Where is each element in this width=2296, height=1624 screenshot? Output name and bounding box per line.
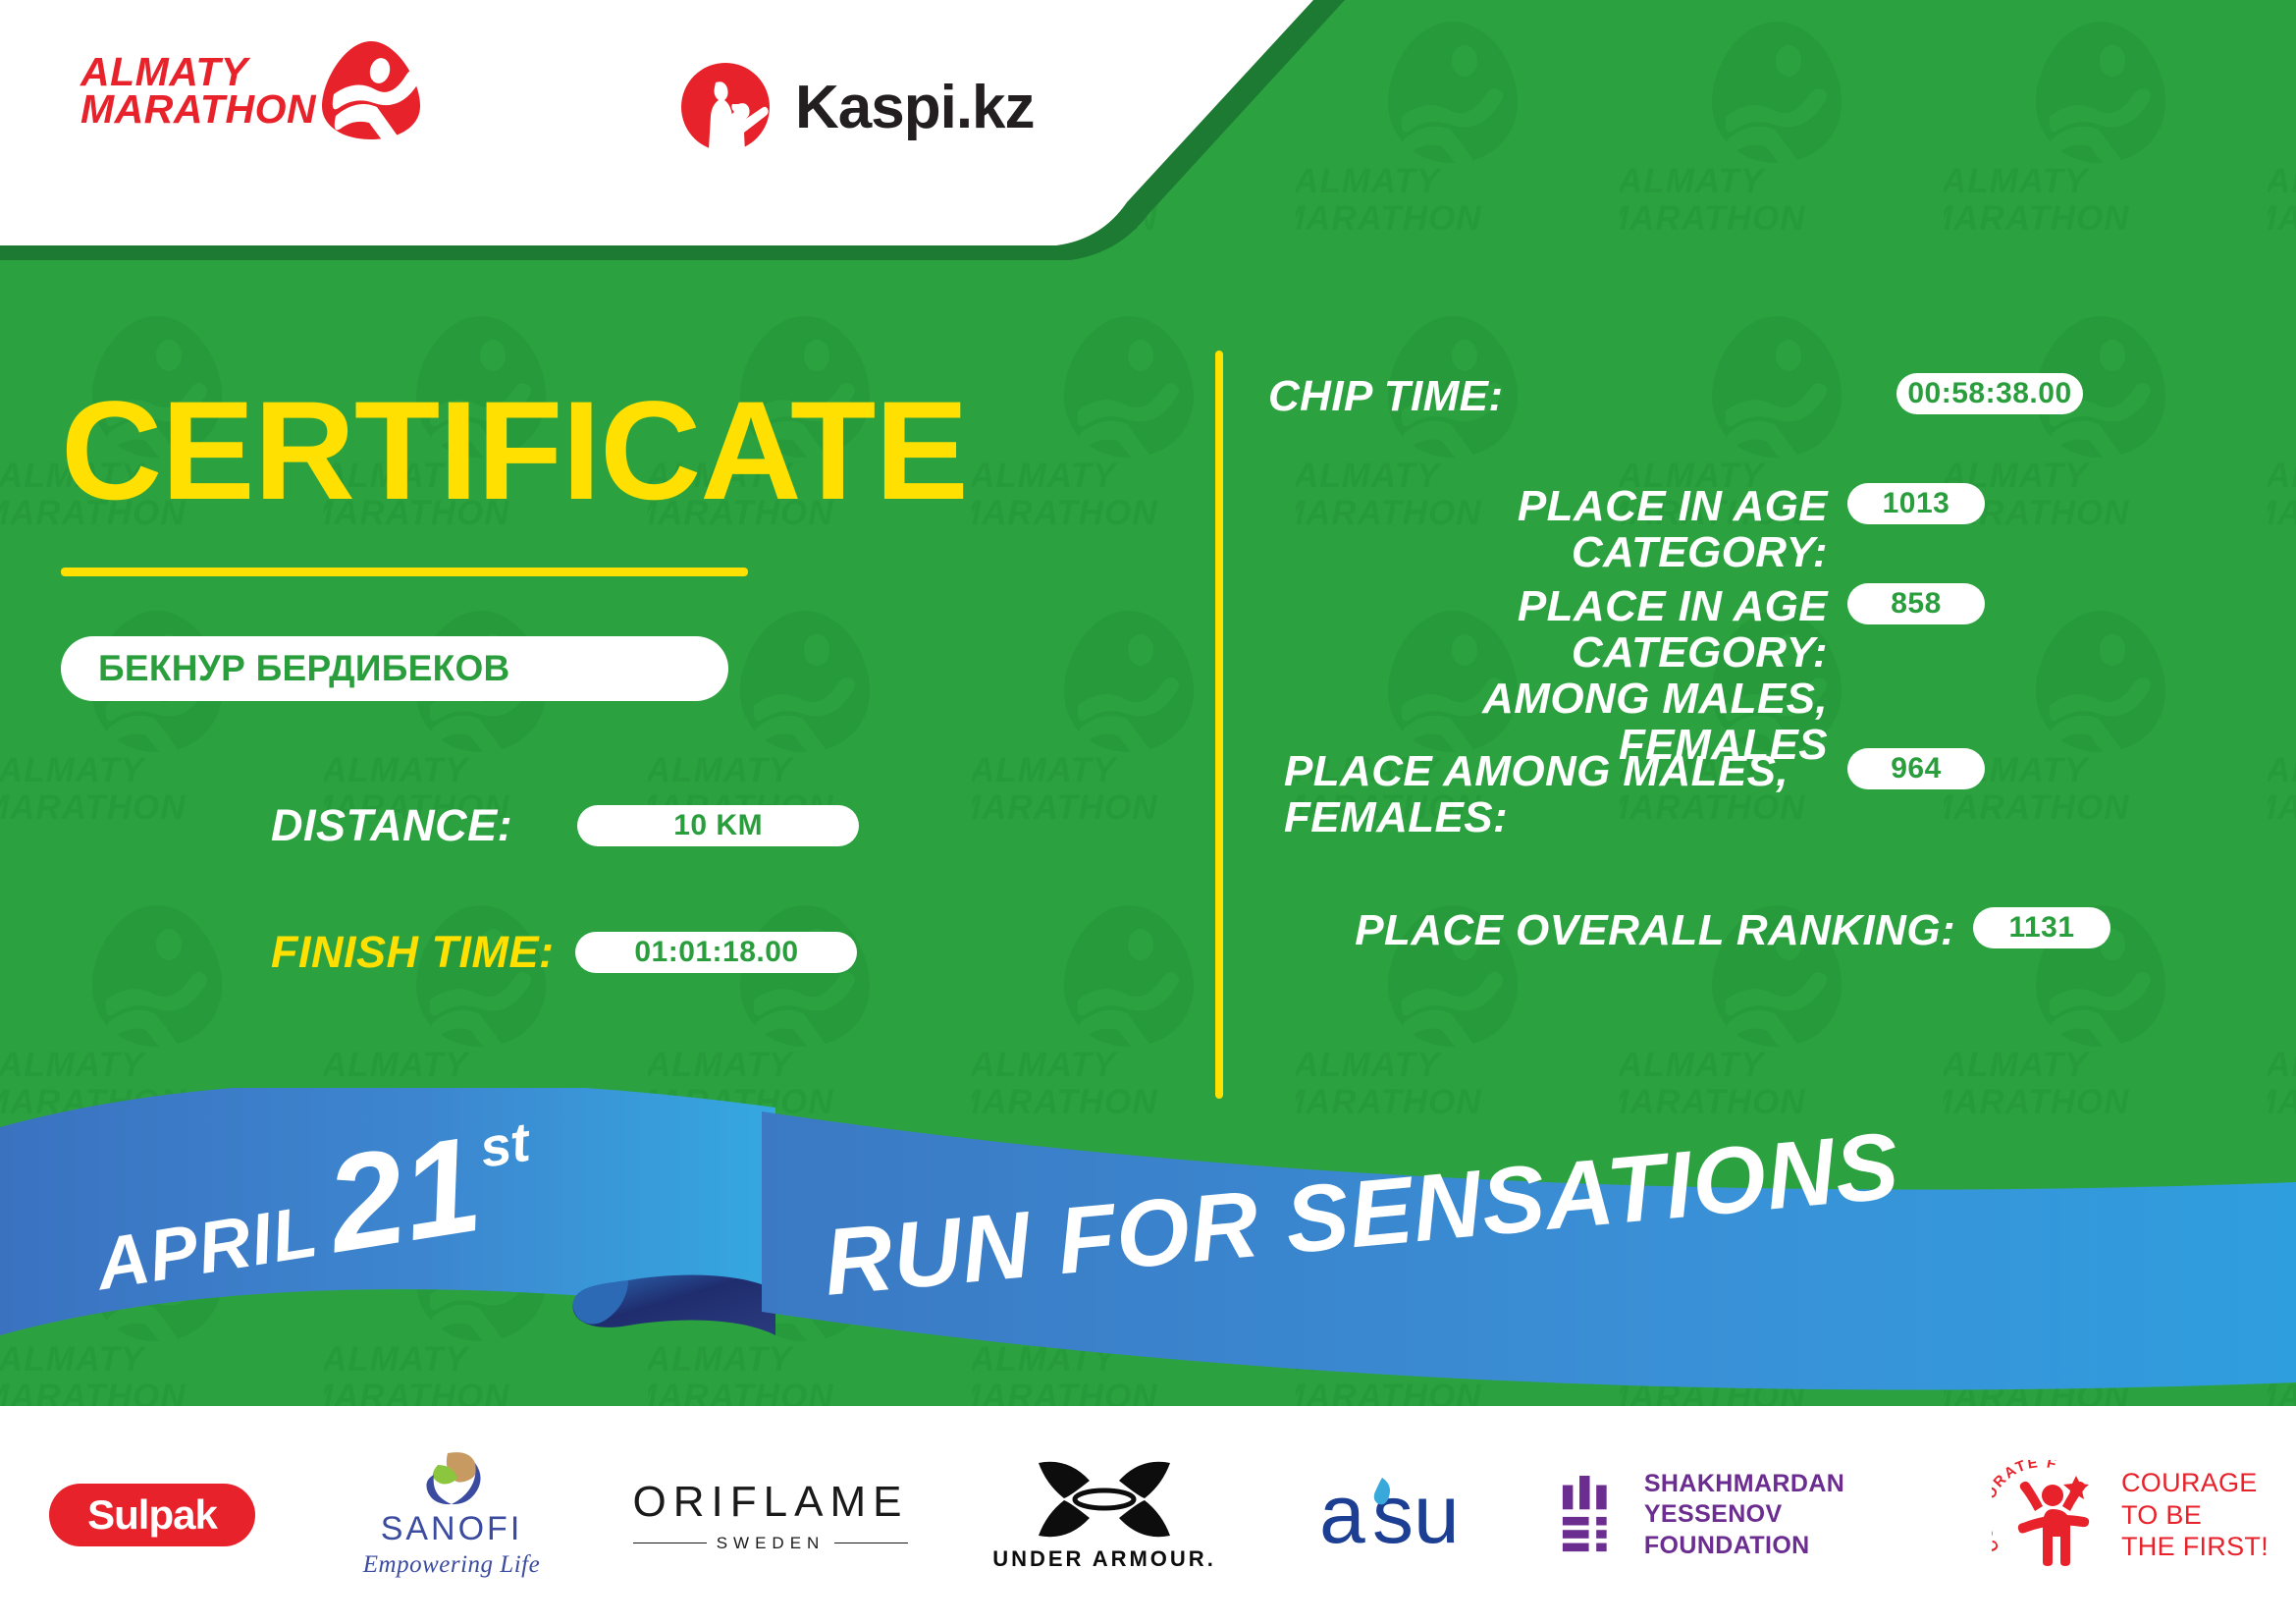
yessenov-logo: SHAKHMARDAN YESSENOV FOUNDATION (1561, 1469, 1973, 1561)
under-armour-logo: UNDER ARMOUR. (992, 1459, 1216, 1572)
runner-teardrop-icon (318, 37, 424, 143)
distance-value-pill: 10 KM (577, 805, 859, 846)
oriflame-rule-left (633, 1543, 707, 1543)
oriflame-rule-right (834, 1543, 908, 1543)
almaty-logo-line1: ALMATY (80, 53, 316, 90)
chip-time-label: CHIP TIME: (1268, 373, 1789, 419)
almaty-marathon-logo: ALMATY MARATHON (80, 37, 424, 143)
column-divider (1215, 351, 1223, 1099)
yessenov-mark-icon (1561, 1474, 1623, 1556)
finish-time-value: 01:01:18.00 (634, 936, 798, 969)
stat-row-place-in-age-category: PLACE IN AGE CATEGORY: 1013 (1268, 483, 2258, 575)
oriflame-sub: SWEDEN (633, 1534, 909, 1553)
event-ribbon (0, 1088, 2296, 1412)
courage-line2: TO BE (2121, 1499, 2269, 1531)
page-title: CERTIFICATE (61, 381, 968, 521)
almaty-logo-line2: MARATHON (80, 90, 316, 128)
kaspi-people-circle-icon (677, 59, 774, 155)
place-overall-value: 1131 (2008, 911, 2074, 945)
chip-time-value: 00:58:38.00 (1907, 377, 2071, 410)
almaty-marathon-wordmark: ALMATY MARATHON (80, 53, 316, 128)
stat-row-chip-time: CHIP TIME: 00:58:38.00 (1268, 373, 2258, 419)
courage-runner-icon: CORPORATE FUND (1992, 1460, 2108, 1570)
svg-text:a: a (1319, 1468, 1365, 1560)
courage-logo: CORPORATE FUND COURAGE TO BE THE FIRST! (1992, 1460, 2269, 1570)
participant-name-field: БЕКНУР БЕРДИБЕКОВ (61, 636, 728, 701)
courage-wordmark: COURAGE TO BE THE FIRST! (2121, 1467, 2269, 1562)
participant-name: БЕКНУР БЕРДИБЕКОВ (61, 648, 510, 689)
place-among-label-line1: PLACE AMONG MALES, (1284, 748, 1794, 794)
courage-line1: COURAGE (2121, 1467, 2269, 1498)
place-among-value-pill: 964 (1847, 748, 1985, 789)
sponsor-yessenov-foundation: SHAKHMARDAN YESSENOV FOUNDATION (1561, 1446, 1973, 1584)
sponsor-courage-to-be-the-first: CORPORATE FUND COURAGE TO BE THE FIRST! (1973, 1446, 2287, 1584)
distance-value: 10 KM (673, 809, 763, 842)
sanofi-mark-icon (414, 1451, 489, 1506)
sponsor-sanofi: SANOFI Empowering Life (304, 1446, 599, 1584)
place-among-label: PLACE AMONG MALES, FEMALES: (1284, 748, 1794, 840)
sulpak-logo: Sulpak (49, 1484, 255, 1546)
sponsor-under-armour: UNDER ARMOUR. (942, 1446, 1266, 1584)
oriflame-logo: ORIFLAME SWEDEN (633, 1478, 909, 1553)
distance-row: DISTANCE: 10 KM (271, 800, 859, 851)
sanofi-logo: SANOFI Empowering Life (363, 1451, 540, 1579)
kaspi-wordmark: Kaspi.kz (795, 73, 1035, 142)
place-overall-value-pill: 1131 (1973, 907, 2110, 948)
kaspi-logo: Kaspi.kz (677, 59, 1035, 155)
oriflame-country: SWEDEN (717, 1534, 826, 1553)
sanofi-wordmark: SANOFI (381, 1510, 523, 1548)
yessenov-line1: SHAKHMARDAN YESSENOV (1644, 1469, 1973, 1531)
place-age-category-label: PLACE IN AGE CATEGORY: (1268, 483, 1828, 575)
oriflame-wordmark: ORIFLAME (633, 1478, 909, 1527)
place-among-label-line2: FEMALES: (1284, 794, 1794, 840)
sponsor-oriflame: ORIFLAME SWEDEN (599, 1446, 942, 1584)
stat-row-place-overall-ranking: PLACE OVERALL RANKING: 1131 (1268, 907, 2258, 953)
sponsor-asu: a su (1266, 1446, 1561, 1584)
place-overall-label: PLACE OVERALL RANKING: (1268, 907, 1955, 953)
sponsor-sulpak: Sulpak (0, 1446, 304, 1584)
certificate-page: ALMATY MARATHON ALMATY MARATHON (0, 0, 2296, 1624)
place-age-category-among-value: 858 (1891, 587, 1942, 621)
stat-row-place-among-males-females: PLACE AMONG MALES, FEMALES: 964 (1268, 748, 2258, 840)
under-armour-wordmark: UNDER ARMOUR. (992, 1546, 1216, 1572)
sulpak-wordmark: Sulpak (87, 1491, 217, 1539)
yessenov-wordmark: SHAKHMARDAN YESSENOV FOUNDATION (1644, 1469, 1973, 1561)
place-age-category-among-label: PLACE IN AGE CATEGORY: AMONG MALES, FEMA… (1268, 583, 1828, 768)
finish-time-row: FINISH TIME: 01:01:18.00 (271, 927, 857, 978)
stat-row-place-in-age-category-among: PLACE IN AGE CATEGORY: AMONG MALES, FEMA… (1268, 583, 2258, 768)
under-armour-mark-icon (1031, 1459, 1178, 1540)
finish-time-label: FINISH TIME: (271, 927, 554, 978)
place-among-value: 964 (1891, 752, 1942, 785)
finish-time-value-pill: 01:01:18.00 (575, 932, 857, 973)
asu-wordmark-icon: a su (1315, 1466, 1512, 1564)
courage-line3: THE FIRST! (2121, 1531, 2269, 1562)
distance-label: DISTANCE: (271, 800, 512, 851)
chip-time-value-pill: 00:58:38.00 (1896, 373, 2083, 414)
place-age-category-value: 1013 (1883, 487, 1950, 520)
title-divider (61, 568, 748, 576)
asu-logo: a su (1315, 1466, 1512, 1564)
place-age-category-among-label-line1: PLACE IN AGE CATEGORY: (1268, 583, 1828, 676)
sanofi-tagline: Empowering Life (363, 1551, 540, 1579)
place-age-category-among-value-pill: 858 (1847, 583, 1985, 624)
sponsor-strip: Sulpak SANOFI Empowering Life ORIFLAME (0, 1406, 2296, 1624)
yessenov-line2: FOUNDATION (1644, 1531, 1973, 1561)
place-age-category-value-pill: 1013 (1847, 483, 1985, 524)
